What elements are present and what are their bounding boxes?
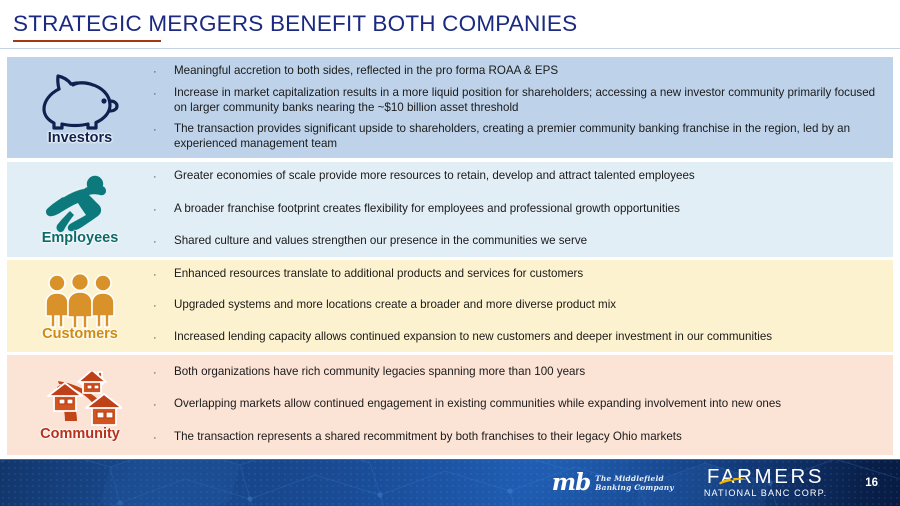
bullet-text: Overlapping markets allow continued enga…: [174, 397, 883, 412]
bullet-text: The transaction represents a shared reco…: [174, 430, 883, 445]
piggy-bank-icon: [37, 71, 123, 133]
title-block: STRATEGIC MERGERS BENEFIT BOTH COMPANIES: [13, 12, 887, 42]
middlefield-logo: mb The Middlefield Banking Company: [552, 471, 674, 494]
houses-icon: [38, 371, 122, 429]
running-person-icon: [41, 175, 119, 233]
bullet-marker: ·: [153, 267, 174, 283]
bullet-text: Both organizations have rich community l…: [174, 365, 883, 380]
farmers-subtitle: NATIONAL BANC CORP.: [704, 488, 827, 499]
employees-label: Employees: [42, 231, 119, 246]
footer-logos: mb The Middlefield Banking Company FARME…: [0, 459, 900, 506]
investors-label: Investors: [48, 131, 112, 146]
employees-icon-cell: Employees: [7, 162, 153, 257]
bullet-item: · Greater economies of scale provide mor…: [153, 169, 883, 185]
bullet-item: · The transaction provides significant u…: [153, 122, 883, 151]
bullet-text: Greater economies of scale provide more …: [174, 169, 883, 184]
bullet-item: · The transaction represents a shared re…: [153, 430, 883, 446]
bullet-text: The transaction provides significant ups…: [174, 122, 883, 151]
bullet-item: · Increase in market capitalization resu…: [153, 86, 883, 115]
investors-bullets: · Meaningful accretion to both sides, re…: [153, 57, 893, 158]
bullet-item: · Increased lending capacity allows cont…: [153, 330, 883, 346]
customers-icon-cell: Customers: [7, 260, 153, 352]
employees-bullets: · Greater economies of scale provide mor…: [153, 162, 893, 257]
bullet-text: A broader franchise footprint creates fl…: [174, 202, 883, 217]
community-bullets: · Both organizations have rich community…: [153, 355, 893, 455]
slide-footer: mb The Middlefield Banking Company FARME…: [0, 459, 900, 506]
bullet-text: Increased lending capacity allows contin…: [174, 330, 883, 345]
bullet-marker: ·: [153, 169, 174, 185]
bullet-marker: ·: [153, 298, 174, 314]
mb-wordmark: The Middlefield Banking Company: [595, 474, 674, 492]
bullet-item: · Both organizations have rich community…: [153, 365, 883, 381]
bullet-marker: ·: [153, 365, 174, 381]
three-people-icon: [42, 273, 118, 329]
bullet-marker: ·: [153, 397, 174, 413]
bullet-item: · A broader franchise footprint creates …: [153, 202, 883, 218]
slide: STRATEGIC MERGERS BENEFIT BOTH COMPANIES…: [0, 0, 900, 506]
section-investors: Investors · Meaningful accretion to both…: [7, 57, 893, 158]
farmers-wordmark: FARMERS: [704, 467, 827, 487]
bullet-item: · Upgraded systems and more locations cr…: [153, 298, 883, 314]
bullet-text: Shared culture and values strengthen our…: [174, 234, 883, 249]
bullet-text: Upgraded systems and more locations crea…: [174, 298, 883, 313]
bullet-marker: ·: [153, 86, 174, 102]
farmers-logo: FARMERS NATIONAL BANC CORP.: [704, 467, 827, 499]
bullet-text: Meaningful accretion to both sides, refl…: [174, 64, 883, 79]
page-number: 16: [865, 477, 878, 489]
section-community: Community · Both organizations have rich…: [7, 355, 893, 455]
bullet-marker: ·: [153, 234, 174, 250]
customers-label: Customers: [42, 327, 118, 342]
bullet-marker: ·: [153, 430, 174, 446]
bullet-item: · Overlapping markets allow continued en…: [153, 397, 883, 413]
community-label: Community: [40, 427, 120, 442]
bullet-item: · Enhanced resources translate to additi…: [153, 267, 883, 283]
bullet-item: · Shared culture and values strengthen o…: [153, 234, 883, 250]
bullet-marker: ·: [153, 122, 174, 138]
investors-icon-cell: Investors: [7, 57, 153, 158]
bullet-marker: ·: [153, 330, 174, 346]
bullet-text: Increase in market capitalization result…: [174, 86, 883, 115]
mb-wordmark-line1: The Middlefield: [595, 474, 664, 483]
mb-monogram: mb: [552, 471, 590, 494]
bullet-text: Enhanced resources translate to addition…: [174, 267, 883, 282]
mb-wordmark-line2: Banking Company: [595, 483, 674, 492]
bullet-item: · Meaningful accretion to both sides, re…: [153, 64, 883, 80]
page-title: STRATEGIC MERGERS BENEFIT BOTH COMPANIES: [13, 12, 887, 37]
section-customers: Customers · Enhanced resources translate…: [7, 260, 893, 352]
bullet-marker: ·: [153, 202, 174, 218]
title-accent-underline: [13, 40, 161, 43]
customers-bullets: · Enhanced resources translate to additi…: [153, 260, 893, 352]
header-divider: [0, 48, 900, 49]
bullet-marker: ·: [153, 64, 174, 80]
section-employees: Employees · Greater economies of scale p…: [7, 162, 893, 257]
community-icon-cell: Community: [7, 355, 153, 455]
